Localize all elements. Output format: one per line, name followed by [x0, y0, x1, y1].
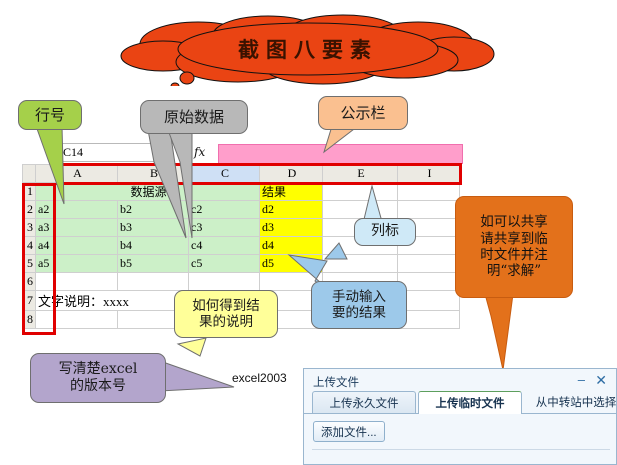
callout-version-note-line1: 写清楚excel: [59, 361, 138, 378]
callout-row-number-label: 行号: [18, 100, 82, 130]
page-title: 截图八要素: [118, 34, 498, 64]
callout-how-result: 如何得到结 果的说明: [174, 290, 278, 338]
minimize-icon[interactable]: –: [578, 376, 585, 384]
callout-version-note: 写清楚excel 的版本号: [30, 353, 166, 403]
upload-dialog-title: 上传文件: [313, 374, 359, 390]
tab-upload-temporary[interactable]: 上传临时文件: [418, 391, 522, 414]
callout-share-note-body: 如可以共享 请共享到临 时文件并注 明“求解”: [455, 196, 573, 298]
callout-version-note-body: 写清楚excel 的版本号: [30, 353, 166, 403]
tab-upload-permanent[interactable]: 上传永久文件: [312, 391, 416, 413]
callout-share-note-line3: 时文件并注: [480, 247, 548, 263]
callout-manual-input-line1: 手动输入: [332, 289, 386, 305]
upload-file-dialog: 上传文件 – ✕ 上传永久文件 上传临时文件 从中转站中选择 添加文件...: [303, 368, 617, 465]
upload-tab-strip: 上传永久文件 上传临时文件 从中转站中选择: [304, 391, 617, 414]
cell-b5[interactable]: b5: [118, 255, 189, 273]
callout-manual-input-line2: 要的结果: [332, 305, 386, 321]
callout-row-number: 行号: [18, 100, 82, 130]
callout-formula-bar-label: 公示栏: [318, 96, 408, 130]
title-cloud-banner: 截图八要素: [118, 14, 498, 86]
add-file-button[interactable]: 添加文件...: [313, 421, 385, 442]
callout-how-result-body: 如何得到结 果的说明: [174, 290, 278, 338]
callout-raw-data-label: 原始数据: [140, 100, 248, 134]
callout-share-note-line4: 明“求解”: [487, 263, 541, 279]
excel-version-text: excel2003: [232, 371, 287, 385]
callout-manual-input: 手动输入 要的结果: [311, 281, 407, 329]
callout-how-result-line1: 如何得到结: [192, 298, 260, 314]
callout-share-note-line1: 如可以共享: [480, 214, 548, 230]
callout-tail: [160, 359, 270, 419]
callout-share-note: 如可以共享 请共享到临 时文件并注 明“求解”: [455, 196, 573, 298]
callout-manual-input-body: 手动输入 要的结果: [311, 281, 407, 329]
dialog-divider: [312, 449, 610, 450]
tab-select-from-transfer[interactable]: 从中转站中选择: [524, 391, 617, 413]
callout-raw-data: 原始数据: [140, 100, 248, 134]
cell-c6[interactable]: [189, 273, 260, 291]
callout-share-note-line2: 请共享到临: [480, 231, 548, 247]
callout-version-note-line2: 的版本号: [70, 378, 126, 395]
close-icon[interactable]: ✕: [595, 372, 607, 389]
callout-how-result-line2: 果的说明: [199, 314, 253, 330]
callout-formula-bar: 公示栏: [318, 96, 408, 130]
screenshot-canvas: 截图八要素 C14 fx A B C D E I: [0, 0, 617, 465]
cell-c5[interactable]: c5: [189, 255, 260, 273]
cell-b6[interactable]: [118, 273, 189, 291]
